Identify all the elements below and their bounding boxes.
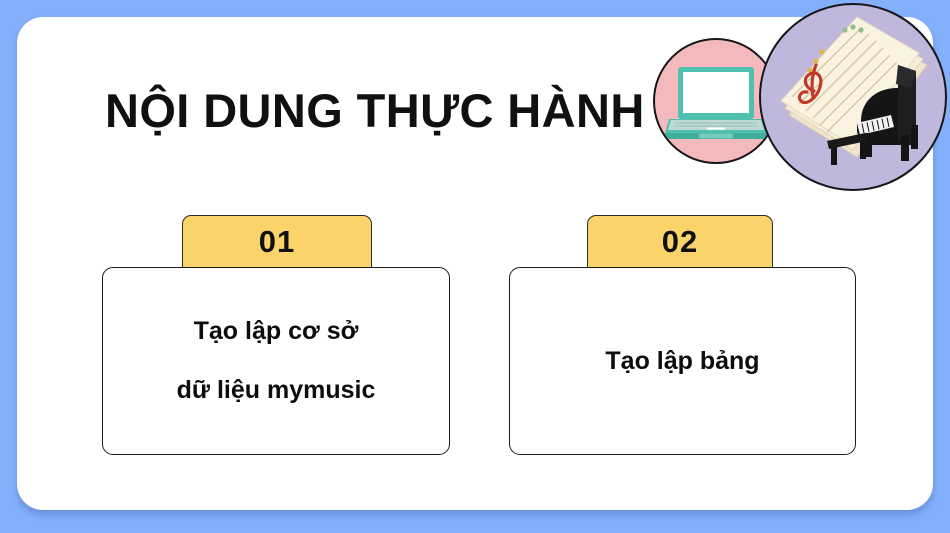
card-number-tab-02: 02	[587, 215, 773, 267]
card-number-tab-01: 01	[182, 215, 372, 267]
music-circle	[759, 3, 947, 191]
content-card-02-line-1: Tạo lập bảng	[605, 349, 759, 374]
content-card-01[interactable]: Tạo lập cơ sở dữ liệu mymusic	[102, 267, 450, 455]
content-card-02[interactable]: Tạo lập bảng	[509, 267, 856, 455]
content-card-01-line-1: Tạo lập cơ sở	[194, 319, 359, 344]
sheet-music-piano-icon	[761, 5, 945, 189]
page-title: NỘI DUNG THỰC HÀNH	[105, 83, 645, 138]
card-number-label-01: 01	[259, 226, 295, 257]
content-card-01-line-2: dữ liệu mymusic	[177, 378, 376, 403]
card-number-label-02: 02	[662, 226, 698, 257]
decoration-cluster	[651, 0, 950, 190]
